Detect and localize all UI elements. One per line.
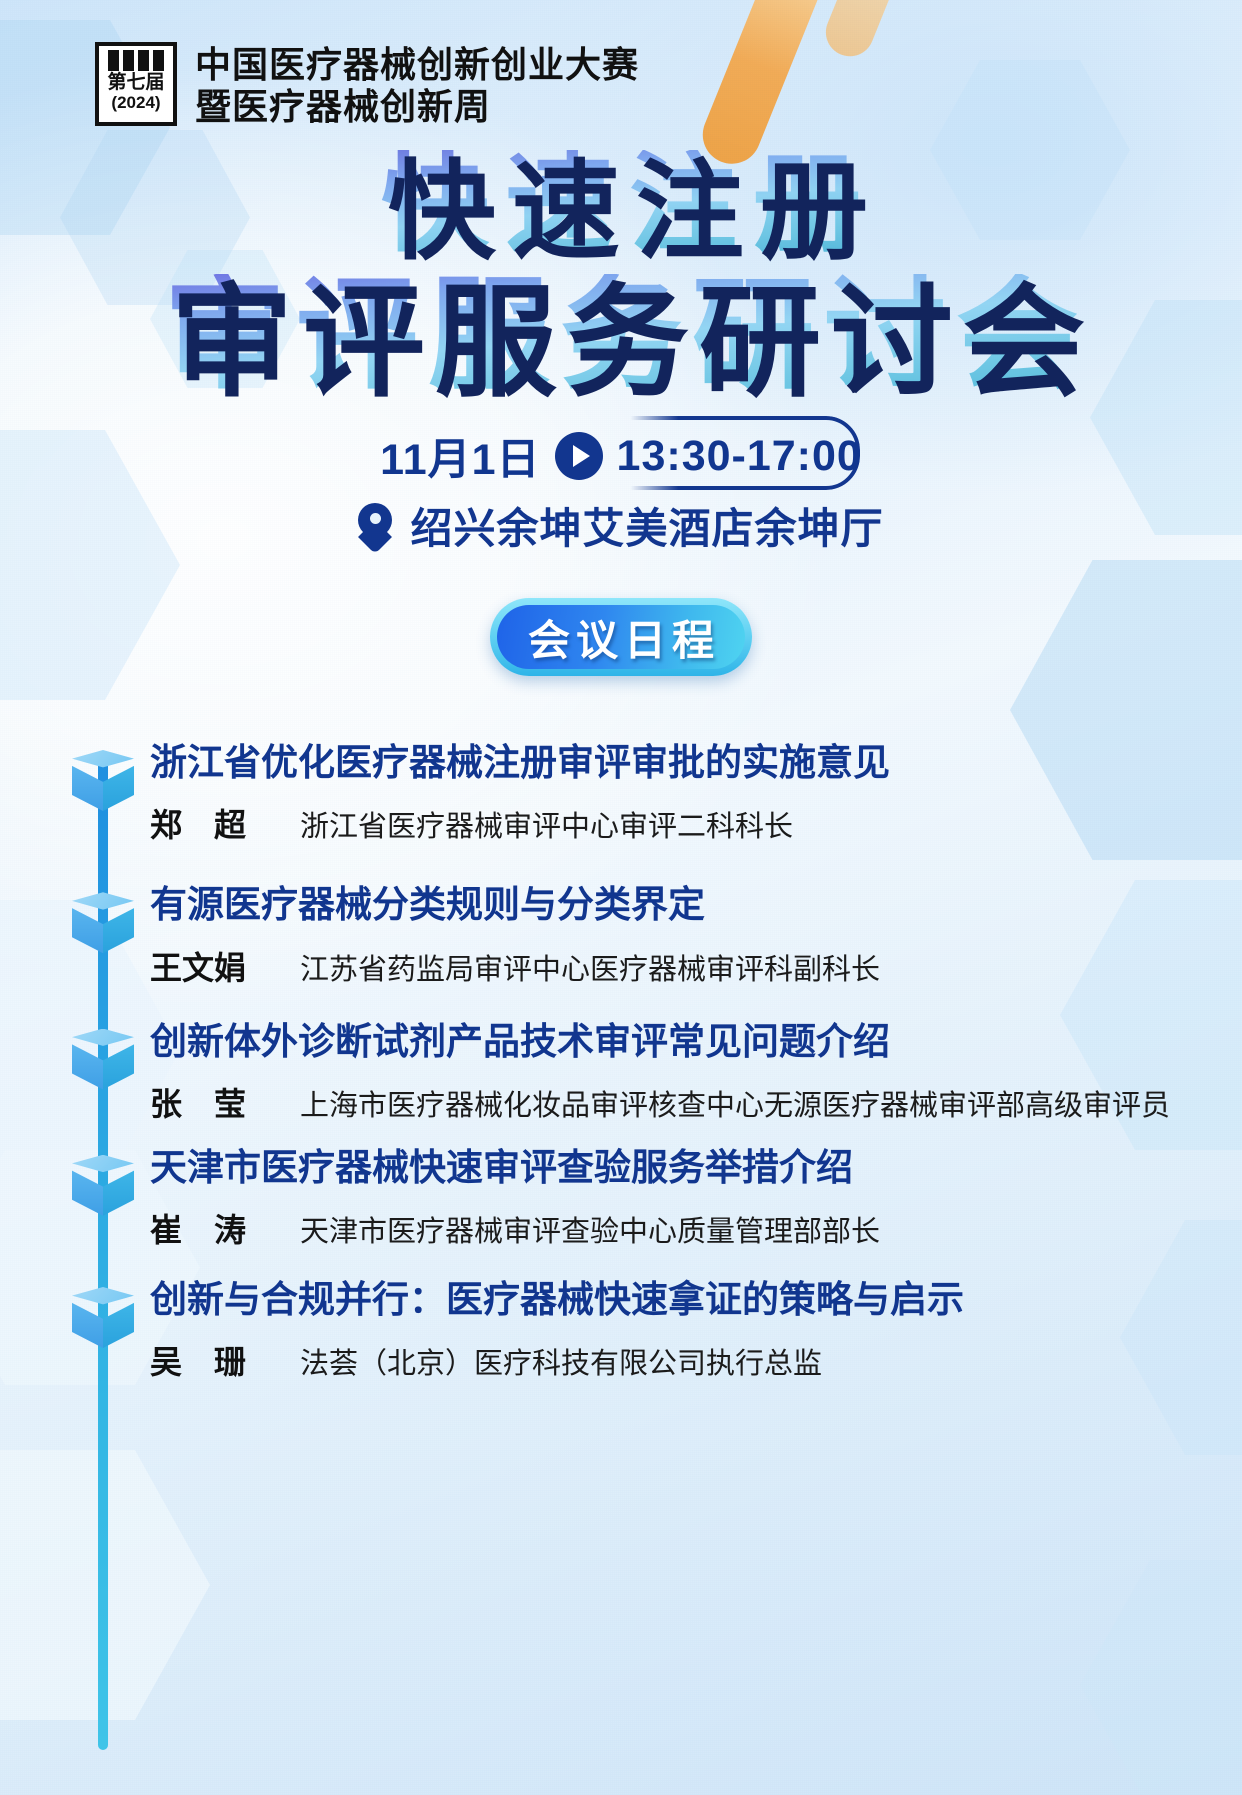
list-item: 浙江省优化医疗器械注册审评审批的实施意见 郑 超 浙江省医疗器械审评中心审评二科… bbox=[0, 740, 1242, 846]
speaker-name: 张 莹 bbox=[150, 1079, 300, 1125]
agenda-badge: 会议日程 bbox=[490, 598, 752, 676]
cube-marker-icon bbox=[72, 1029, 134, 1091]
agenda-badge-label: 会议日程 bbox=[522, 607, 720, 668]
speaker-row: 郑 超 浙江省医疗器械审评中心审评二科科长 bbox=[150, 800, 1242, 846]
speaker-affiliation: 天津市医疗器械审评查验中心质量管理部部长 bbox=[300, 1208, 880, 1250]
location-pin-icon bbox=[358, 503, 392, 549]
title-line-2: 审评服务研讨会 bbox=[10, 274, 1242, 396]
agenda-badge-inner: 会议日程 bbox=[497, 605, 745, 669]
speaker-affiliation: 上海市医疗器械化妆品审评核查中心无源医疗器械审评部高级审评员 bbox=[300, 1082, 1170, 1124]
brand-line-1: 中国医疗器械创新创业大赛 bbox=[195, 44, 639, 86]
session-title: 创新体外诊断试剂产品技术审评常见问题介绍 bbox=[150, 1019, 1242, 1065]
speaker-name: 吴 珊 bbox=[150, 1337, 300, 1383]
session-title: 有源医疗器械分类规则与分类界定 bbox=[150, 882, 1242, 928]
cube-marker-icon bbox=[72, 892, 134, 954]
list-item: 天津市医疗器械快速审评查验服务举措介绍 崔 涛 天津市医疗器械审评查验中心质量管… bbox=[0, 1145, 1242, 1251]
speaker-name: 崔 涛 bbox=[150, 1205, 300, 1251]
list-item: 创新与合规并行：医疗器械快速拿证的策略与启示 吴 珊 法荟（北京）医疗科技有限公… bbox=[0, 1277, 1242, 1383]
play-triangle bbox=[573, 445, 590, 467]
speaker-name: 郑 超 bbox=[150, 800, 300, 846]
speaker-affiliation: 法荟（北京）医疗科技有限公司执行总监 bbox=[300, 1340, 822, 1382]
cube-marker-icon bbox=[72, 1155, 134, 1217]
edition-logo: 第七届 (2024) bbox=[95, 42, 177, 126]
session-title: 创新与合规并行：医疗器械快速拿证的策略与启示 bbox=[150, 1277, 1242, 1323]
speaker-row: 张 莹 上海市医疗器械化妆品审评核查中心无源医疗器械审评部高级审评员 bbox=[150, 1079, 1242, 1125]
logo-bars-icon bbox=[108, 50, 164, 71]
cube-marker-icon bbox=[72, 1287, 134, 1349]
schedule-list: 浙江省优化医疗器械注册审评审批的实施意见 郑 超 浙江省医疗器械审评中心审评二科… bbox=[0, 740, 1242, 1405]
speaker-name: 王文娟 bbox=[150, 943, 300, 989]
page-title: 快速注册 审评服务研讨会 bbox=[0, 150, 1242, 396]
pin-hole bbox=[370, 513, 381, 524]
speaker-affiliation: 江苏省药监局审评中心医疗器械审评科副科长 bbox=[300, 946, 880, 988]
event-brand-header: 第七届 (2024) 中国医疗器械创新创业大赛 暨医疗器械创新周 bbox=[95, 42, 639, 128]
title-line-1: 快速注册 bbox=[16, 150, 1242, 258]
venue-name: 绍兴余坤艾美酒店余坤厅 bbox=[410, 495, 883, 556]
datetime-row: 11月1日 13:30-17:00 bbox=[0, 425, 1242, 487]
list-item: 创新体外诊断试剂产品技术审评常见问题介绍 张 莹 上海市医疗器械化妆品审评核查中… bbox=[0, 1019, 1242, 1125]
speaker-row: 吴 珊 法荟（北京）医疗科技有限公司执行总监 bbox=[150, 1337, 1242, 1383]
brand-name: 中国医疗器械创新创业大赛 暨医疗器械创新周 bbox=[195, 42, 639, 128]
edition-label: 第七届 bbox=[107, 73, 164, 94]
cube-marker-icon bbox=[72, 750, 134, 812]
event-date: 11月1日 bbox=[380, 425, 540, 487]
list-item: 有源医疗器械分类规则与分类界定 王文娟 江苏省药监局审评中心医疗器械审评科副科长 bbox=[0, 882, 1242, 988]
session-title: 天津市医疗器械快速审评查验服务举措介绍 bbox=[150, 1145, 1242, 1191]
brand-line-2: 暨医疗器械创新周 bbox=[195, 86, 639, 128]
session-title: 浙江省优化医疗器械注册审评审批的实施意见 bbox=[150, 740, 1242, 786]
speaker-affiliation: 浙江省医疗器械审评中心审评二科科长 bbox=[300, 803, 793, 845]
event-time: 13:30-17:00 bbox=[617, 432, 862, 481]
speaker-row: 王文娟 江苏省药监局审评中心医疗器械审评科副科长 bbox=[150, 943, 1242, 989]
edition-year: (2024) bbox=[111, 94, 160, 112]
venue-row: 绍兴余坤艾美酒店余坤厅 bbox=[0, 495, 1242, 556]
speaker-row: 崔 涛 天津市医疗器械审评查验中心质量管理部部长 bbox=[150, 1205, 1242, 1251]
play-icon bbox=[555, 432, 603, 480]
